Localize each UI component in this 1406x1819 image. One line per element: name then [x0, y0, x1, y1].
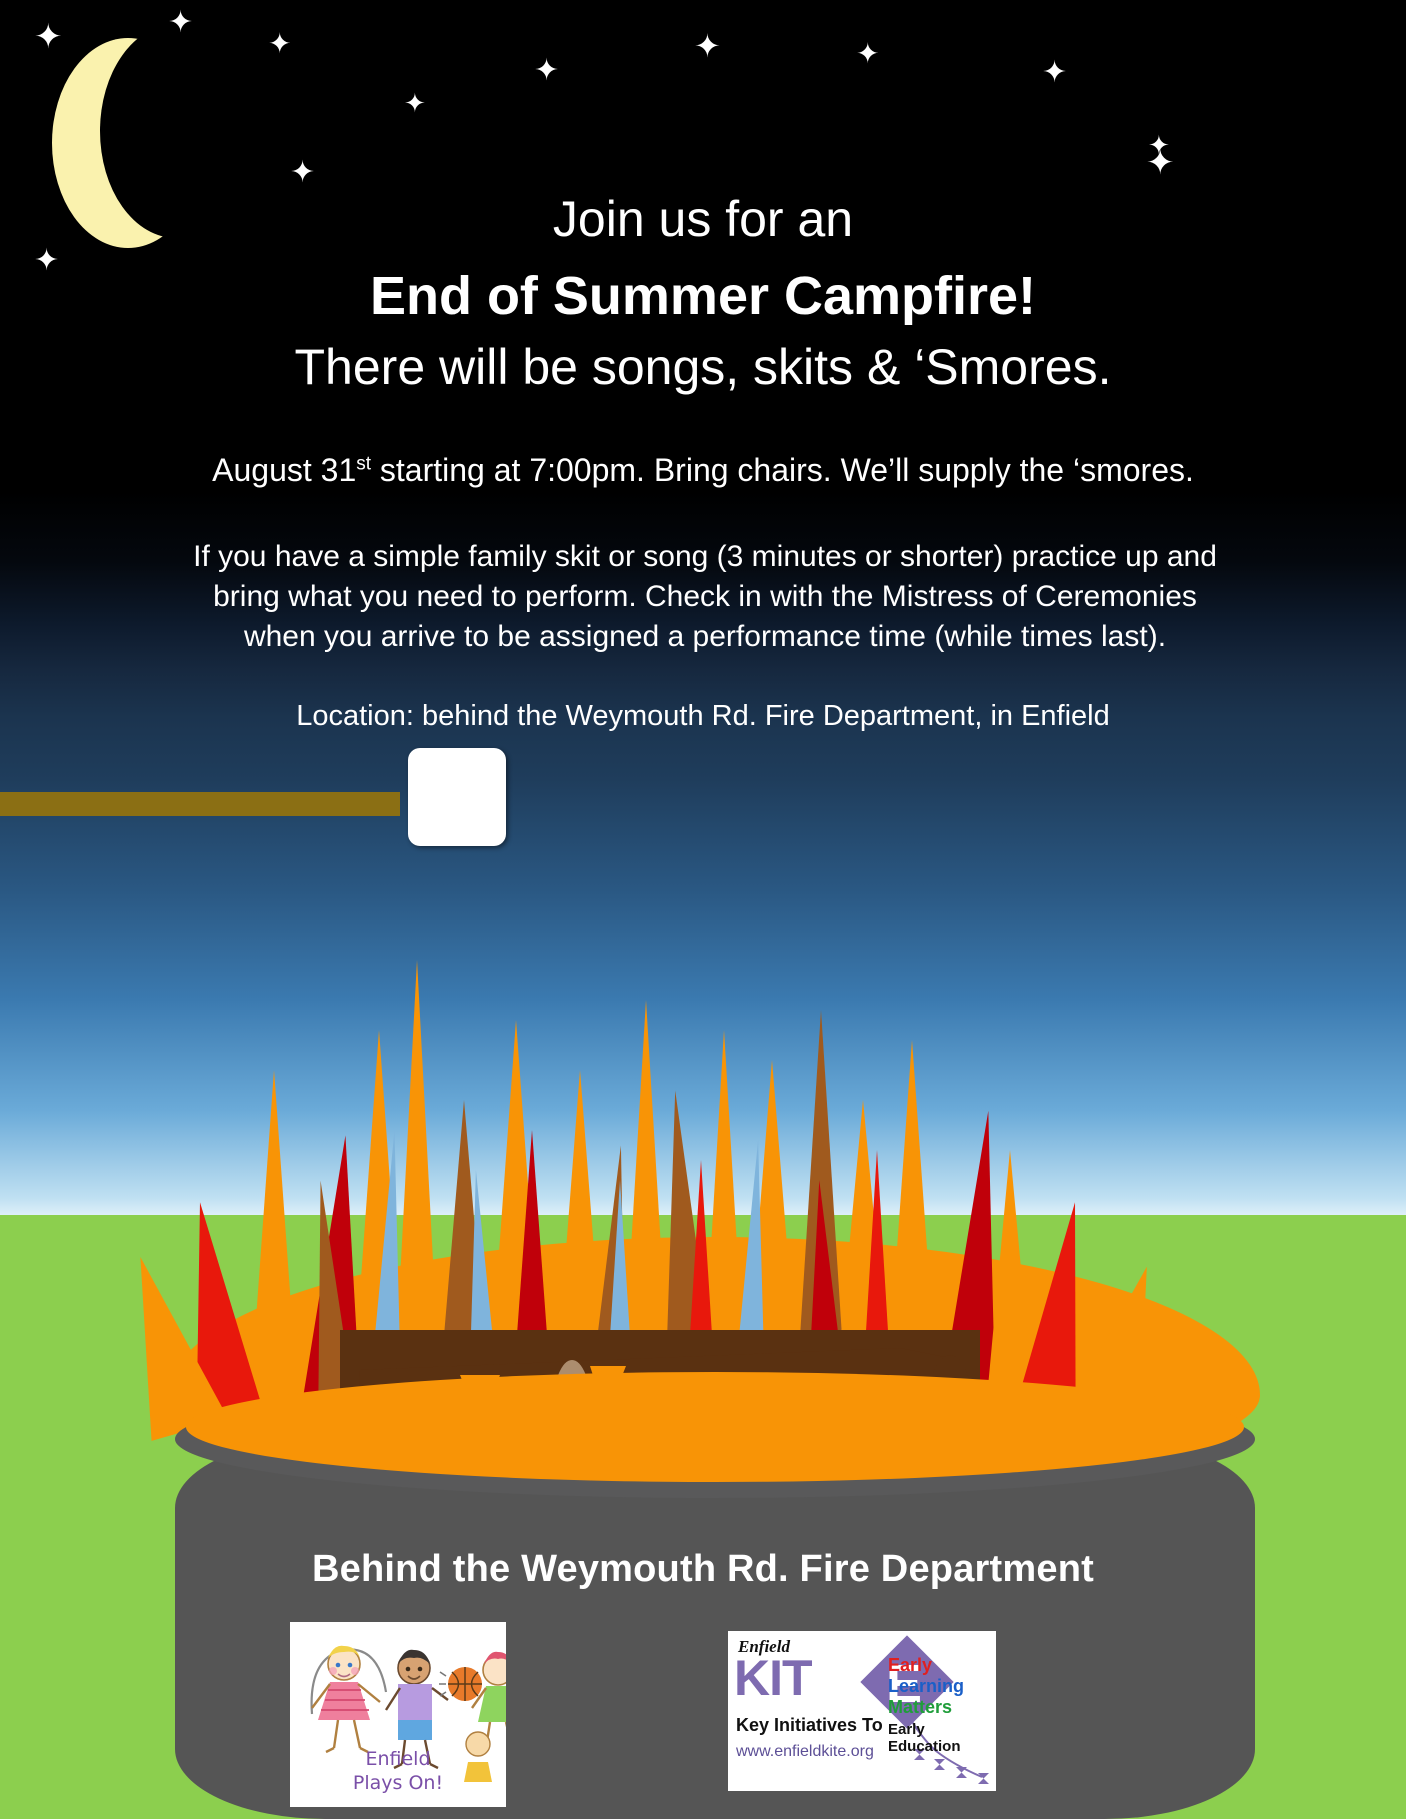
dusk-sky-gradient: [0, 780, 1406, 1220]
date-prefix: August 31: [212, 452, 356, 488]
instructions-paragraph: If you have a simple family skit or song…: [180, 537, 1230, 657]
date-suffix: starting at 7:00pm. Bring chairs. We’ll …: [371, 452, 1194, 488]
campfire-flyer-poster: ✦✦✦✦✦✦✦✦✦✦✦✦ Join us for an End of Summe…: [0, 0, 1406, 1819]
kite-website-url[interactable]: www.enfieldkite.org: [736, 1743, 874, 1761]
location-banner: Behind the Weymouth Rd. Fire Department: [0, 1548, 1406, 1591]
kite-tagline: Key Initiatives To: [736, 1715, 883, 1736]
star-icon: ✦: [404, 90, 426, 116]
kite-matters-word: Matters: [888, 1697, 952, 1718]
star-icon: ✦: [1042, 58, 1067, 88]
kite-early-education-word: Early Education: [888, 1721, 996, 1755]
plays-on-line2: Plays On!: [290, 1772, 506, 1794]
location-line: Location: behind the Weymouth Rd. Fire D…: [0, 700, 1406, 733]
star-icon: ✦: [1146, 146, 1175, 180]
headline-small: Join us for an: [0, 190, 1406, 248]
enfield-kite-logo[interactable]: Enfield KIT E Key Initiatives To www.enf…: [728, 1631, 996, 1791]
enfield-plays-on-logo[interactable]: Enfield Plays On!: [290, 1622, 506, 1807]
star-icon: ✦: [856, 40, 879, 68]
fire-pit-inner: [186, 1372, 1244, 1482]
kite-learning-word: Learning: [888, 1676, 964, 1697]
headline-subtitle: There will be songs, skits & ‘Smores.: [0, 338, 1406, 396]
star-icon: ✦: [34, 20, 63, 54]
star-icon: ✦: [268, 30, 291, 58]
page-title: End of Summer Campfire!: [0, 265, 1406, 327]
star-icon: ✦: [534, 56, 559, 86]
star-icon: ✦: [168, 8, 193, 38]
star-icon: ✦: [694, 30, 721, 62]
kite-early-word: Early: [888, 1655, 932, 1676]
plays-on-line1: Enfield: [290, 1748, 506, 1770]
kite-acronym: KIT: [734, 1653, 812, 1703]
marshmallow-icon: [408, 748, 506, 846]
date-ordinal-suffix: st: [356, 453, 371, 474]
roasting-stick-icon: [0, 792, 400, 816]
star-icon: ✦: [290, 158, 315, 188]
date-time-line: August 31st starting at 7:00pm. Bring ch…: [0, 452, 1406, 489]
